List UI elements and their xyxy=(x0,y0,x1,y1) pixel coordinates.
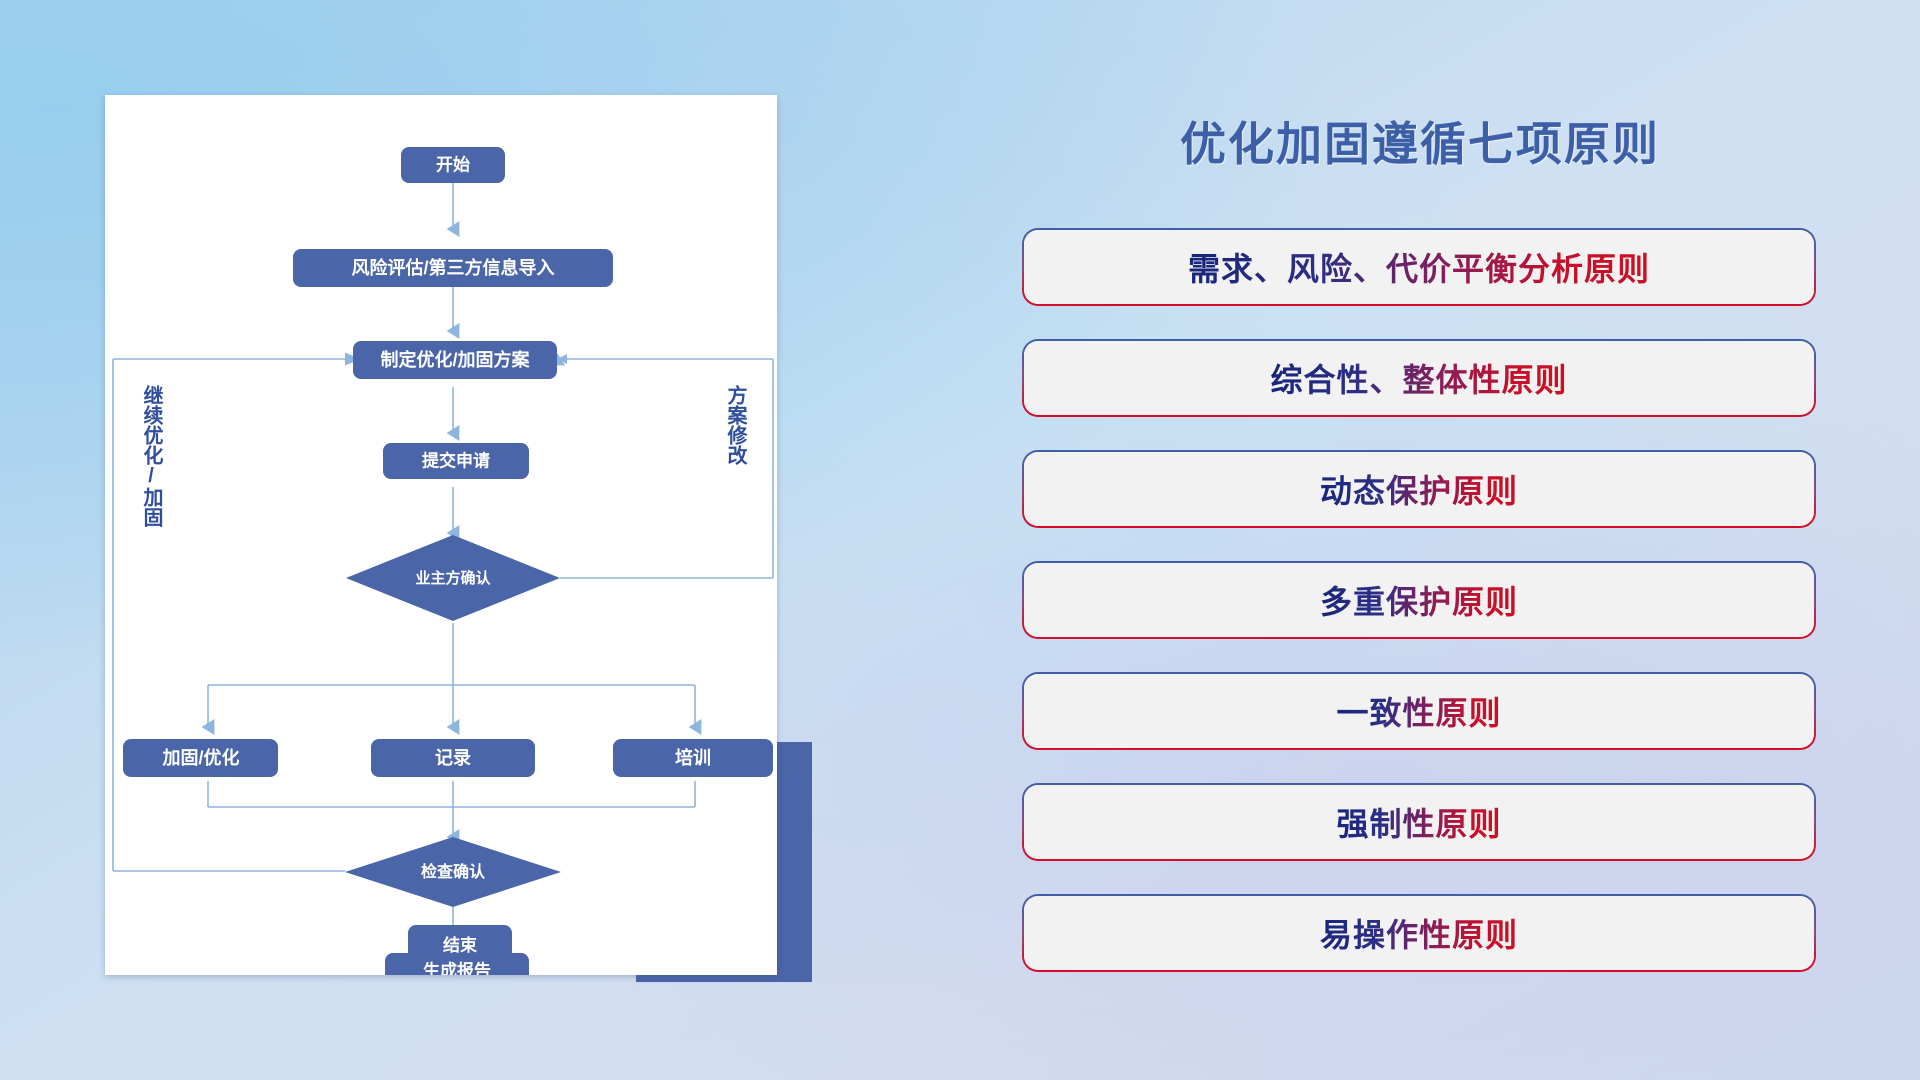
principles-pane: 优化加固遵循七项原则 需求、风险、代价平衡分析原则 综合性、整体性原则 动态保护… xyxy=(1000,0,1920,1080)
slide-canvas: 开始 风险评估/第三方信息导入 制定优化/加固方案 提交申请 业主方确认 xyxy=(0,0,1920,1080)
principle-card-label: 需求、风险、代价平衡分析原则 xyxy=(1188,244,1650,290)
principle-card[interactable]: 需求、风险、代价平衡分析原则 xyxy=(1024,230,1814,304)
flow-node-risk[interactable]: 风险评估/第三方信息导入 xyxy=(293,249,613,287)
principle-card-list: 需求、风险、代价平衡分析原则 综合性、整体性原则 动态保护原则 多重保护原则 一… xyxy=(1024,230,1814,1007)
flow-label-plan-revise: 方案修改 xyxy=(724,384,748,466)
flow-node-end[interactable]: 结束 xyxy=(408,925,512,961)
flow-node-submit[interactable]: 提交申请 xyxy=(383,443,529,479)
flow-node-start[interactable]: 开始 xyxy=(401,147,505,183)
principle-card[interactable]: 综合性、整体性原则 xyxy=(1024,341,1814,415)
flow-node-report-label: 生成报告 xyxy=(423,960,491,975)
principle-card[interactable]: 多重保护原则 xyxy=(1024,563,1814,637)
principle-card-label: 易操作性原则 xyxy=(1320,910,1518,956)
flow-node-record-label: 记录 xyxy=(435,748,471,768)
principle-card[interactable]: 动态保护原则 xyxy=(1024,452,1814,526)
principle-card-label: 一致性原则 xyxy=(1336,688,1501,734)
flow-node-plan-label: 制定优化/加固方案 xyxy=(380,349,530,370)
flow-label-continue-optimize: 继续优化/加固 xyxy=(140,384,164,527)
flow-node-risk-label: 风险评估/第三方信息导入 xyxy=(352,257,555,278)
principle-card[interactable]: 强制性原则 xyxy=(1024,785,1814,859)
principle-card-label: 动态保护原则 xyxy=(1320,466,1518,512)
flow-node-check-confirm[interactable]: 检查确认 xyxy=(345,837,561,907)
flow-node-submit-label: 提交申请 xyxy=(422,450,490,470)
flow-node-owner-confirm-label: 业主方确认 xyxy=(415,569,491,587)
principle-card-label: 综合性、整体性原则 xyxy=(1270,355,1567,401)
principle-card[interactable]: 易操作性原则 xyxy=(1024,896,1814,970)
flow-node-plan[interactable]: 制定优化/加固方案 xyxy=(353,341,557,379)
flow-node-record[interactable]: 记录 xyxy=(371,739,535,777)
flow-node-end-label: 结束 xyxy=(443,931,477,956)
flow-node-owner-confirm[interactable]: 业主方确认 xyxy=(346,535,560,621)
flow-node-start-label: 开始 xyxy=(436,154,470,174)
flow-node-training-label: 培训 xyxy=(675,747,711,768)
flowchart-svg: 开始 风险评估/第三方信息导入 制定优化/加固方案 提交申请 业主方确认 xyxy=(105,95,777,975)
flowchart-card: 开始 风险评估/第三方信息导入 制定优化/加固方案 提交申请 业主方确认 xyxy=(105,95,777,975)
flow-node-check-confirm-label: 检查确认 xyxy=(421,862,486,881)
principle-card-label: 多重保护原则 xyxy=(1320,577,1518,623)
flow-node-training[interactable]: 培训 xyxy=(613,739,773,777)
flow-node-reinforce-label: 加固/优化 xyxy=(161,747,239,768)
principle-card-label: 强制性原则 xyxy=(1336,799,1501,845)
flow-node-reinforce[interactable]: 加固/优化 xyxy=(123,739,278,777)
principle-card[interactable]: 一致性原则 xyxy=(1024,674,1814,748)
panel-title: 优化加固遵循七项原则 xyxy=(1000,108,1840,174)
